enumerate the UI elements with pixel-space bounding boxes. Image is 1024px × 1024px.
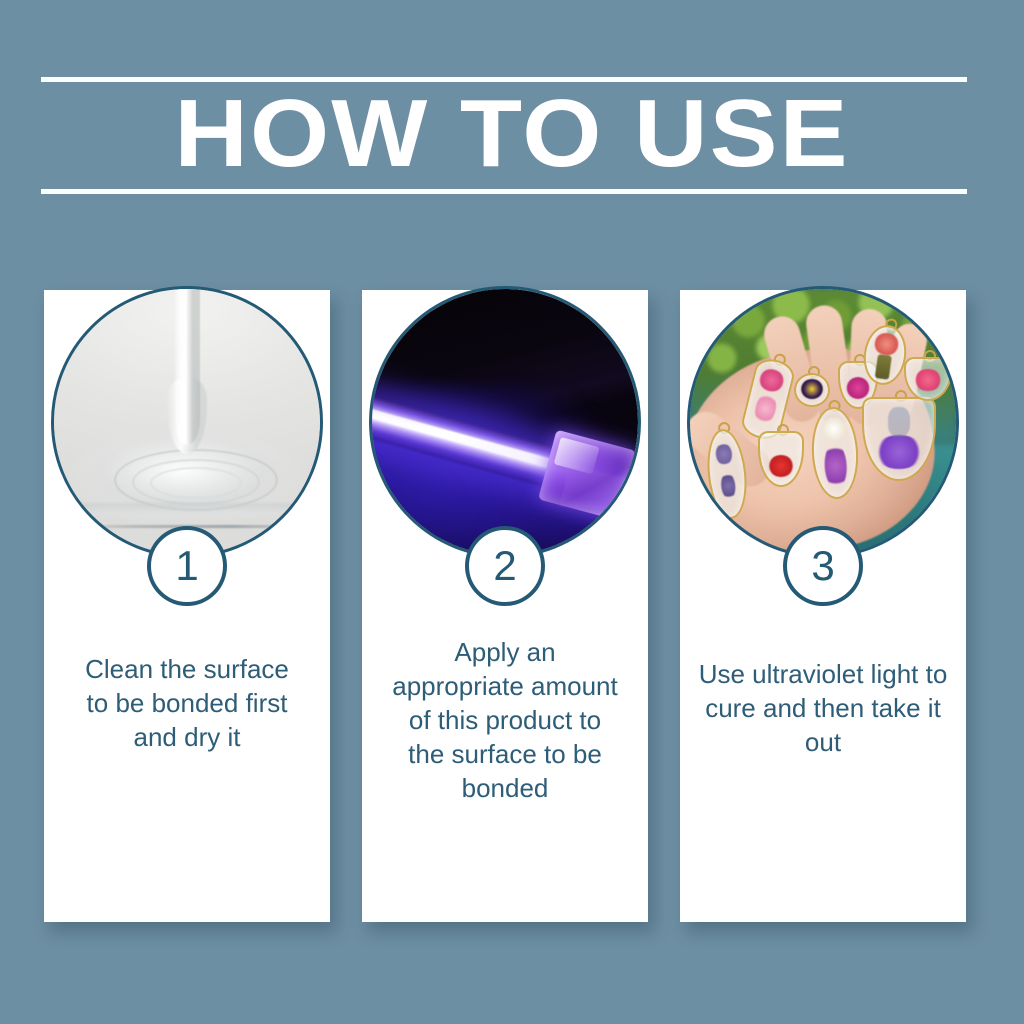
step-card-1[interactable]: 1 Clean the surface to be bonded first a… — [44, 290, 330, 922]
title-rule-bottom — [41, 189, 967, 194]
step-1-photo-wrap — [48, 287, 326, 565]
step-3-photo-wrap — [684, 287, 962, 565]
step-number-badge-3: 3 — [783, 526, 863, 606]
step-caption-1: Clean the surface to be bonded first and… — [44, 652, 330, 754]
uv-blacklight-tube-photo — [369, 286, 641, 558]
page-title: HOW TO USE — [0, 84, 1024, 184]
step-card-3[interactable]: 3 Use ultraviolet light to cure and then… — [680, 290, 966, 922]
step-card-2[interactable]: 2 Apply an appropriate amount of this pr… — [362, 290, 648, 922]
step-caption-2: Apply an appropriate amount of this prod… — [362, 635, 648, 805]
infographic-root: HOW TO USE 1 Clean the surface to be bon… — [0, 0, 1024, 1024]
step-number-badge-1: 1 — [147, 526, 227, 606]
resin-flower-pendants-photo — [687, 286, 959, 558]
step-caption-3: Use ultraviolet light to cure and then t… — [680, 657, 966, 759]
step-2-photo-wrap — [366, 287, 644, 565]
clear-glue-pour-photo — [51, 286, 323, 558]
step-number-badge-2: 2 — [465, 526, 545, 606]
